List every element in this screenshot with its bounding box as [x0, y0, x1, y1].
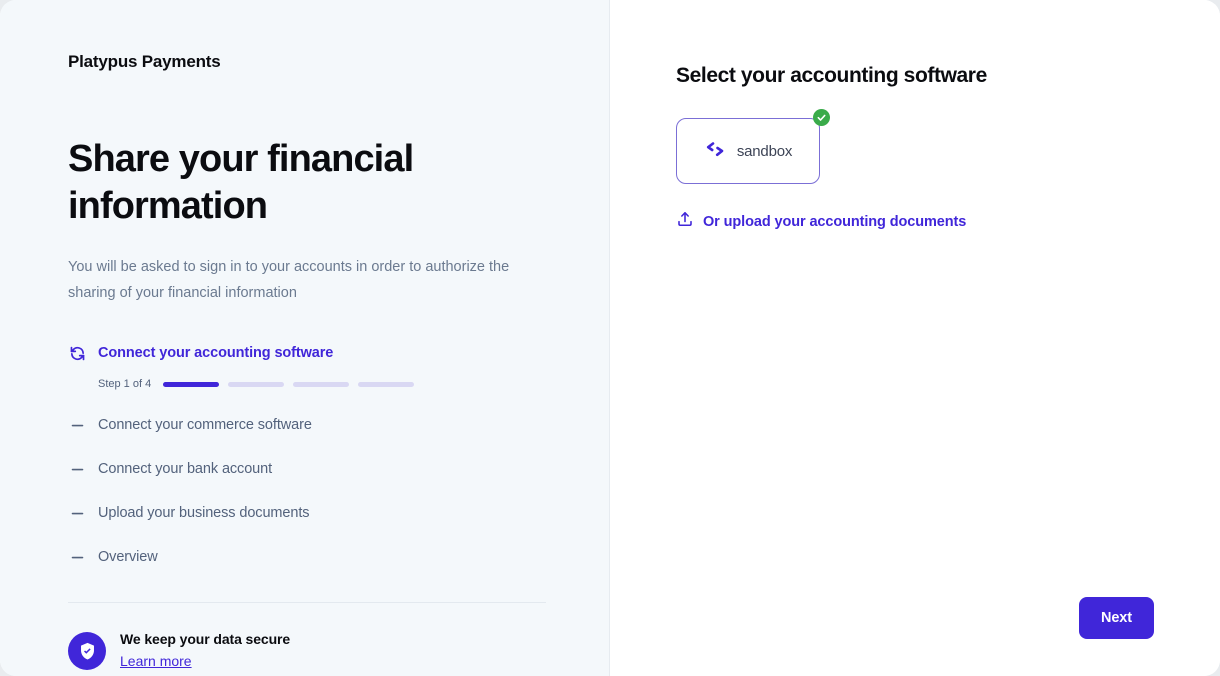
software-card-wrapper: sandbox [676, 118, 820, 184]
step-list: Connect your accounting software Step 1 … [68, 344, 541, 566]
code-brackets-icon [704, 137, 728, 166]
learn-more-link[interactable]: Learn more [120, 653, 192, 669]
upload-icon [676, 210, 694, 233]
progress-segment-2 [228, 382, 284, 387]
sidebar-item-connect-commerce[interactable]: Connect your commerce software [68, 416, 541, 434]
dash-icon [68, 460, 86, 478]
security-notice: We keep your data secure Learn more [68, 631, 541, 671]
shield-check-icon [68, 632, 106, 670]
left-panel: Platypus Payments Share your financial i… [0, 0, 610, 676]
divider [68, 602, 546, 603]
progress-segment-4 [358, 382, 414, 387]
progress-segment-1 [163, 382, 219, 387]
security-title: We keep your data secure [120, 631, 290, 647]
section-title: Select your accounting software [676, 64, 1154, 88]
upload-documents-link[interactable]: Or upload your accounting documents [676, 210, 966, 233]
step-label: Overview [98, 549, 158, 565]
sidebar-item-overview[interactable]: Overview [68, 548, 541, 566]
sidebar-item-connect-bank[interactable]: Connect your bank account [68, 460, 541, 478]
dash-icon [68, 504, 86, 522]
onboarding-page: Platypus Payments Share your financial i… [0, 0, 1220, 676]
sidebar-item-upload-documents[interactable]: Upload your business documents [68, 504, 541, 522]
dash-icon [68, 416, 86, 434]
page-subtitle: You will be asked to sign in to your acc… [68, 254, 541, 306]
step-label: Connect your bank account [98, 461, 272, 477]
right-panel: Select your accounting software sandbox [610, 0, 1220, 676]
next-button[interactable]: Next [1079, 597, 1154, 639]
progress-label: Step 1 of 4 [98, 378, 151, 390]
software-card-label: sandbox [737, 143, 792, 160]
upload-documents-label: Or upload your accounting documents [703, 214, 966, 230]
refresh-icon [68, 344, 86, 362]
progress-indicator: Step 1 of 4 [98, 378, 541, 390]
check-circle-icon [813, 109, 830, 126]
step-label: Connect your commerce software [98, 417, 312, 433]
dash-icon [68, 548, 86, 566]
sidebar-item-connect-accounting[interactable]: Connect your accounting software [68, 344, 541, 362]
software-card-sandbox[interactable]: sandbox [676, 118, 820, 184]
step-label: Upload your business documents [98, 505, 309, 521]
brand-title: Platypus Payments [68, 52, 541, 72]
progress-segment-3 [293, 382, 349, 387]
page-title: Share your financial information [68, 136, 438, 230]
step-label: Connect your accounting software [98, 345, 333, 361]
